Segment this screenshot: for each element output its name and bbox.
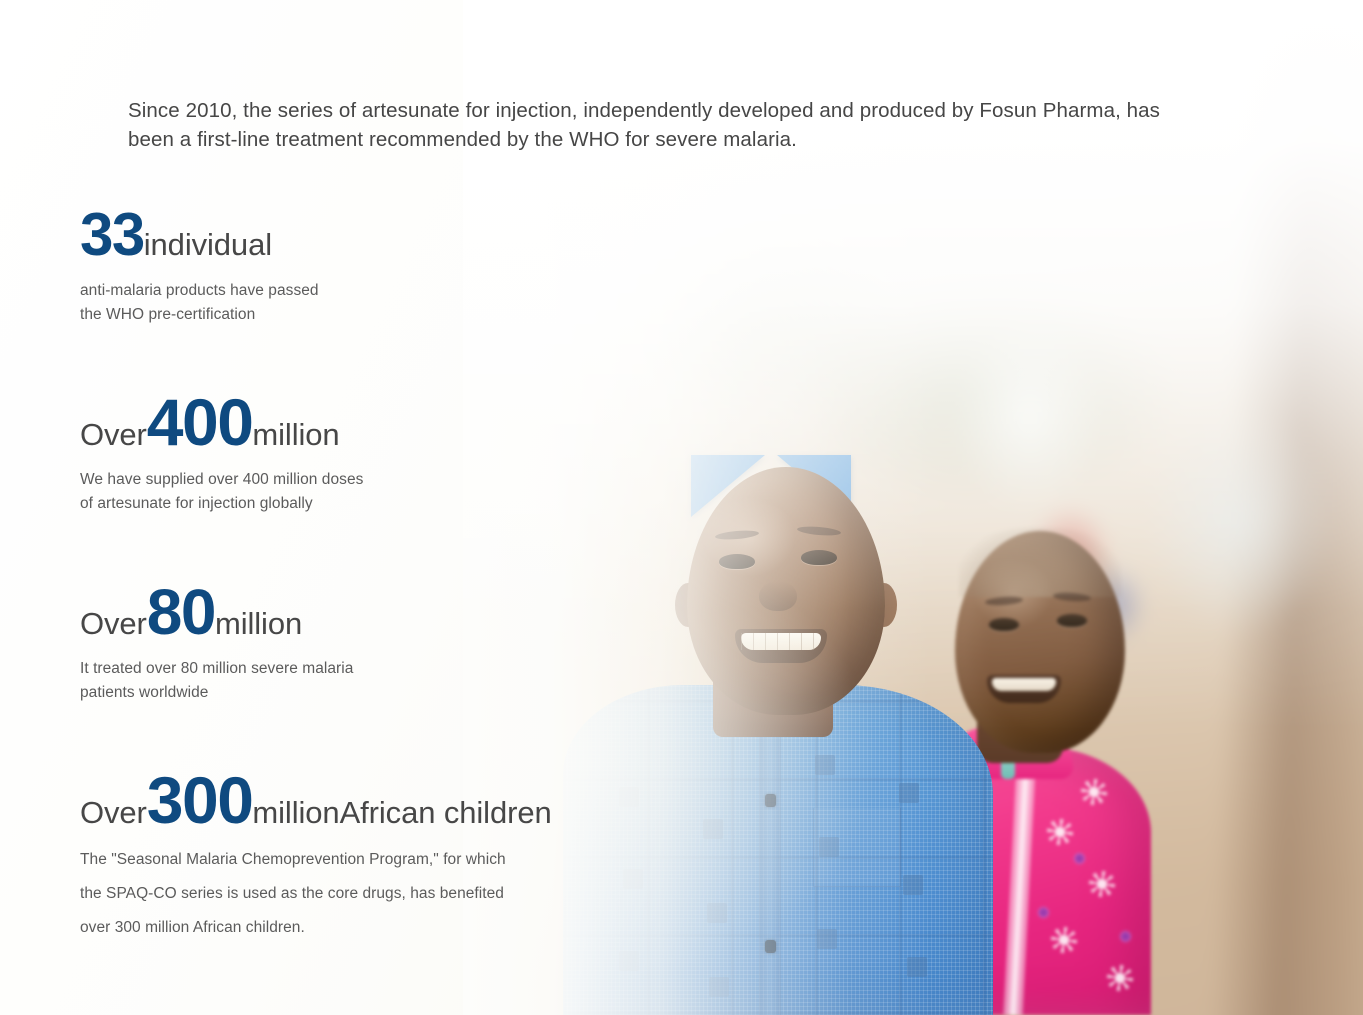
stat-prefix: Over bbox=[80, 606, 147, 641]
stat-number: 80 bbox=[147, 576, 215, 648]
stat-block-80-million: Over80million It treated over 80 million… bbox=[80, 580, 640, 705]
stat-prefix: Over bbox=[80, 417, 147, 452]
stat-number: 300 bbox=[147, 763, 253, 837]
stat-prefix: Over bbox=[80, 795, 147, 830]
statistics-list: 33individual anti-malaria products have … bbox=[80, 205, 640, 945]
stat-description: The "Seasonal Malaria Chemoprevention Pr… bbox=[80, 843, 640, 945]
stat-unit: individual bbox=[144, 227, 272, 262]
stat-block-33: 33individual anti-malaria products have … bbox=[80, 205, 640, 327]
stat-description: anti-malaria products have passed the WH… bbox=[80, 279, 640, 327]
stat-unit: million bbox=[252, 417, 339, 452]
intro-paragraph: Since 2010, the series of artesunate for… bbox=[128, 96, 1198, 154]
stat-headline: 33individual bbox=[80, 205, 640, 265]
stat-headline: Over400million bbox=[80, 389, 640, 455]
stat-extra: African children bbox=[340, 795, 552, 830]
stat-block-300-million-african-children: Over300millionAfrican children The "Seas… bbox=[80, 767, 640, 945]
stat-description: We have supplied over 400 million doses … bbox=[80, 468, 640, 516]
stat-headline: Over300millionAfrican children bbox=[80, 767, 640, 833]
stat-number: 400 bbox=[147, 385, 253, 459]
stat-unit: million bbox=[215, 606, 302, 641]
infographic-stage: Since 2010, the series of artesunate for… bbox=[0, 0, 1363, 1015]
stat-description: It treated over 80 million severe malari… bbox=[80, 657, 640, 705]
stat-unit: million bbox=[252, 795, 339, 830]
stat-block-400-million: Over400million We have supplied over 400… bbox=[80, 389, 640, 516]
stat-headline: Over80million bbox=[80, 580, 640, 644]
stat-number: 33 bbox=[80, 201, 144, 268]
